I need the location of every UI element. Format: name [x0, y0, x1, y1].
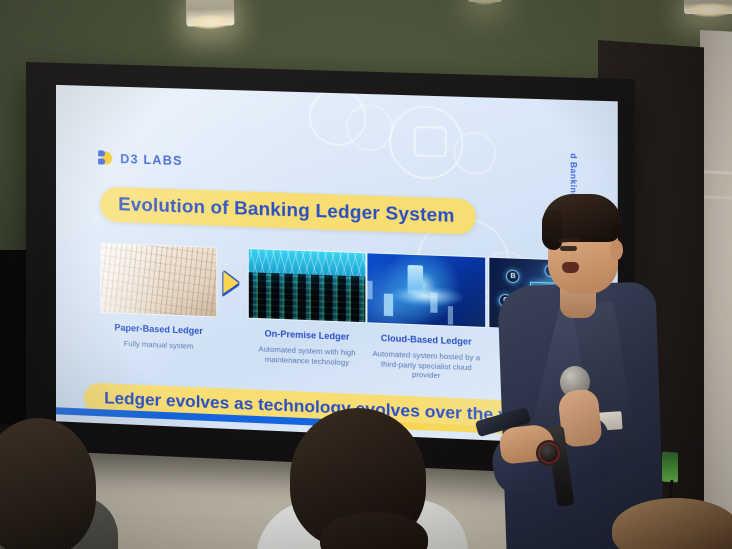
presenter-ear [610, 240, 623, 260]
downlight-icon-2 [468, 0, 502, 2]
watermark-badge-icon [414, 126, 447, 158]
brand-logo-text: D3 LABS [120, 152, 182, 168]
watermark-circle-icon [453, 131, 497, 175]
wrist-watch-icon [536, 440, 562, 466]
stage-label: Paper-Based Ledger [100, 322, 217, 337]
presenter-eye [560, 246, 577, 251]
stage-description: Automated system with high maintenance t… [248, 344, 367, 368]
downlight-icon-3 [684, 0, 732, 14]
slide-title: Evolution of Banking Ledger System [118, 193, 454, 227]
stage-label: On-Premise Ledger [248, 328, 367, 343]
slide-title-pill: Evolution of Banking Ledger System [100, 186, 475, 234]
presentation-photo-scene: D3 LABS Evolution of Banking Ledger Syst… [0, 0, 732, 549]
presenter-mouth [562, 262, 579, 273]
stage-paper-based-ledger: Paper-Based Ledger Fully manual system [100, 243, 217, 353]
cloud-network-thumbnail [366, 252, 486, 328]
downlight-icon-1 [186, 0, 235, 27]
watermark-circle-icon [346, 104, 393, 152]
far-right-wall [700, 30, 732, 549]
stage-description: Fully manual system [100, 338, 217, 352]
presenter-sideburn [542, 210, 562, 250]
paper-ledger-thumbnail [100, 243, 217, 318]
server-racks-thumbnail [248, 248, 367, 323]
right-arrow-icon-1 [223, 271, 238, 294]
stage-cloud-based-ledger: Cloud-Based Ledger Automated system host… [366, 252, 486, 383]
d3-labs-mark-icon [98, 150, 113, 166]
brand-logo: D3 LABS [98, 150, 183, 168]
stage-label: Cloud-Based Ledger [366, 332, 486, 347]
stage-description: Automated system hosted by a third-party… [366, 349, 486, 384]
stage-on-premise-ledger: On-Premise Ledger Automated system with … [248, 248, 367, 368]
presenter [498, 188, 678, 549]
